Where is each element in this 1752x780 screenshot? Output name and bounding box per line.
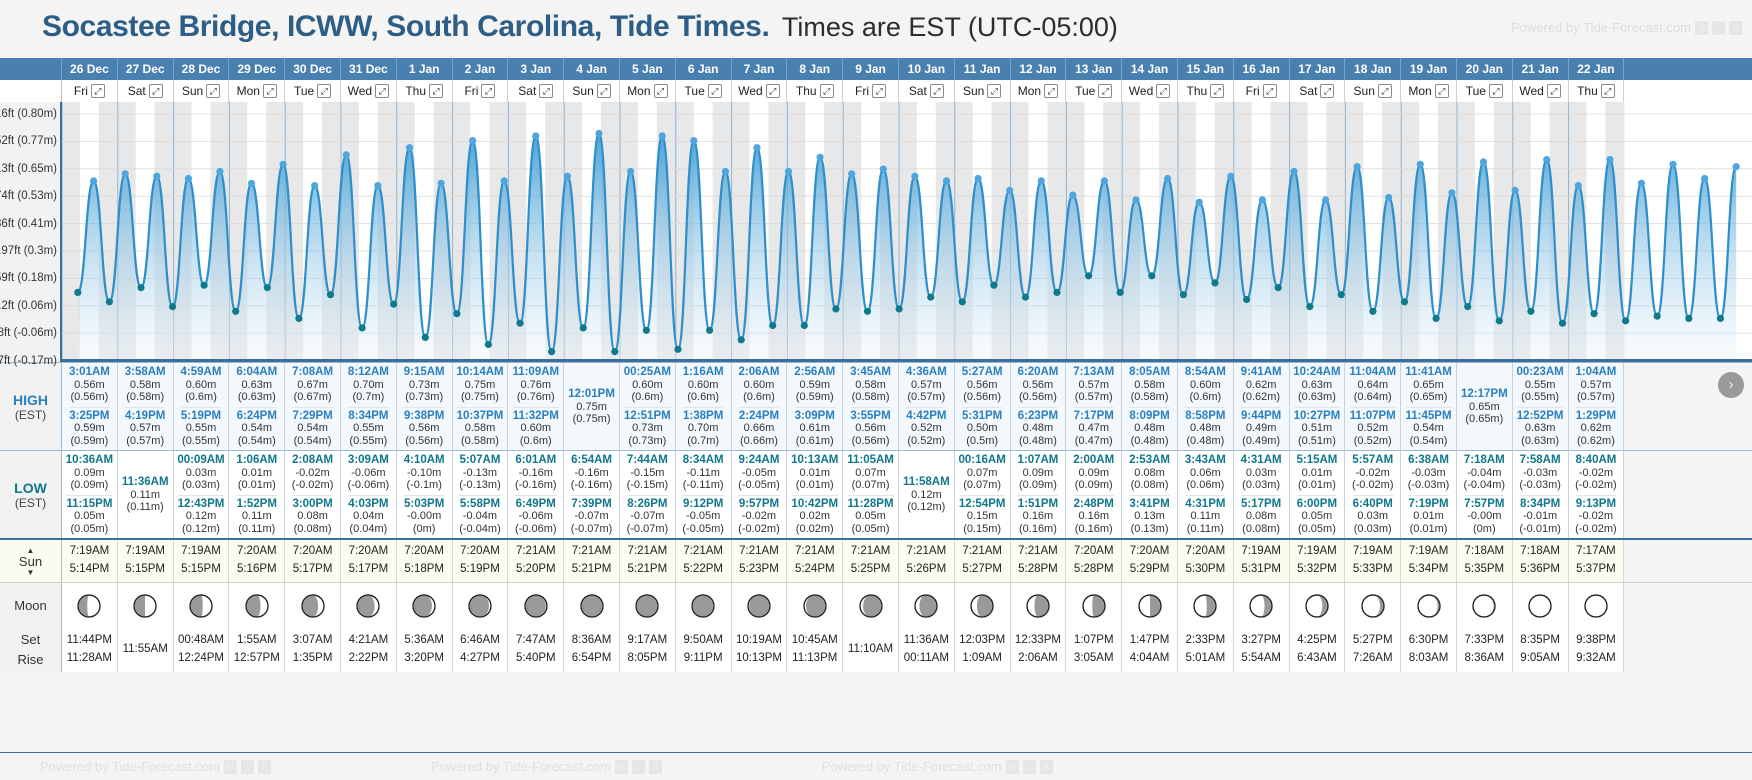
- moon-phase-icon: [1137, 593, 1163, 619]
- date-header-cell[interactable]: 11 Jan: [955, 58, 1011, 80]
- low-event: 00:09AM0.03m(0.03m): [177, 453, 224, 493]
- moon-cell: [1122, 583, 1178, 628]
- high-height-alt: (0.76m): [512, 391, 559, 403]
- high-height-alt: (0.5m): [962, 435, 1002, 447]
- low-height: -0.05m: [682, 510, 724, 522]
- expand-icon[interactable]: ⤢: [708, 84, 722, 98]
- weekday-cell: Thu⤢: [787, 80, 843, 102]
- low-event: 7:19PM0.01m(0.01m): [1408, 495, 1448, 537]
- moon-phase-icon: [300, 593, 326, 619]
- moon-cell: [843, 583, 899, 628]
- date-header-cell[interactable]: 31 Dec: [341, 58, 397, 80]
- tide-curve-plot: [62, 102, 1752, 362]
- low-height: 0.07m: [847, 467, 894, 479]
- moonset-time: 11:36AM: [904, 632, 949, 650]
- sunrise-time: 7:20AM: [1130, 543, 1170, 561]
- low-cell: 10:36AM0.09m(0.09m)11:15PM0.05m(0.05m): [62, 451, 118, 538]
- sunset-time: 5:23PM: [739, 561, 779, 579]
- high-cell: 8:12AM0.70m(0.7m)8:34PM0.55m(0.55m): [341, 363, 397, 450]
- expand-icon[interactable]: ⤢: [263, 84, 277, 98]
- moon-cell: [1178, 583, 1234, 628]
- low-cell: 7:44AM-0.15m(-0.15m)8:26PM-0.07m(-0.07m): [620, 451, 676, 538]
- low-event: 9:13PM-0.02m(-0.02m): [1575, 495, 1617, 537]
- low-cell: 6:54AM-0.16m(-0.16m)7:39PM-0.07m(-0.07m): [564, 451, 620, 538]
- low-cell: 6:38AM-0.03m(-0.03m)7:19PM0.01m(0.01m): [1401, 451, 1457, 538]
- high-height-alt: (0.6m): [513, 435, 559, 447]
- moon-phase-icon: [634, 593, 660, 619]
- expand-icon[interactable]: ⤢: [317, 84, 331, 98]
- expand-icon[interactable]: ⤢: [1547, 84, 1561, 98]
- high-time: 7:13AM: [1073, 366, 1114, 379]
- date-header-cell[interactable]: 6 Jan: [676, 58, 732, 80]
- moon-setrise-cell: 4:21AM2:22PM: [341, 628, 397, 672]
- expand-icon[interactable]: ⤢: [1489, 84, 1503, 98]
- high-height: 0.65m: [1405, 379, 1452, 391]
- high-height: 0.67m: [292, 379, 333, 391]
- date-header-cell[interactable]: 16 Jan: [1234, 58, 1290, 80]
- date-header-cell[interactable]: 2 Jan: [453, 58, 509, 80]
- low-height: -0.13m: [459, 467, 501, 479]
- low-height-alt: (0.11m): [237, 523, 277, 535]
- moonset-time: 11:10AM: [848, 641, 893, 659]
- scroll-badge[interactable]: ›: [1718, 372, 1744, 398]
- sun-label: ▲ Sun ▼: [0, 540, 62, 582]
- expand-icon[interactable]: ⤢: [1320, 84, 1334, 98]
- date-header-cell[interactable]: 4 Jan: [564, 58, 620, 80]
- expand-icon[interactable]: ⤢: [1435, 84, 1449, 98]
- moonrise-time: 2:22PM: [349, 650, 389, 668]
- low-event: 11:05AM0.07m(0.07m): [847, 453, 894, 493]
- weekday-text: Sun: [572, 84, 593, 98]
- expand-icon[interactable]: ⤢: [1263, 84, 1277, 98]
- moonrise-time: 6:43AM: [1297, 650, 1337, 668]
- high-event: 3:09PM0.61m(0.61m): [795, 407, 835, 449]
- sunset-time: 5:17PM: [349, 561, 389, 579]
- date-header-cell[interactable]: 28 Dec: [174, 58, 230, 80]
- high-time: 9:41AM: [1241, 366, 1282, 379]
- moonset-time: 00:48AM: [178, 632, 224, 650]
- low-time: 2:48PM: [1074, 498, 1114, 511]
- sunrise-time: 7:21AM: [795, 543, 835, 561]
- y-axis-tick: 2.6ft (0.80m): [0, 108, 57, 120]
- moonset-time: 10:19AM: [736, 632, 782, 650]
- expand-icon[interactable]: ⤢: [820, 84, 834, 98]
- weekday-cell: Mon⤢: [229, 80, 285, 102]
- sun-label-text: Sun: [19, 554, 42, 569]
- moonrise-time: 11:13PM: [792, 650, 837, 668]
- high-time: 8:12AM: [348, 366, 389, 379]
- high-height: 0.60m: [683, 379, 724, 391]
- date-header-cell[interactable]: 13 Jan: [1066, 58, 1122, 80]
- low-event: 2:08AM-0.02m(-0.02m): [292, 453, 334, 493]
- low-time: 00:16AM: [958, 454, 1005, 467]
- high-time: 3:58AM: [125, 366, 166, 379]
- high-height: 0.70m: [348, 379, 389, 391]
- expand-icon[interactable]: ⤢: [1156, 84, 1170, 98]
- low-height-alt: (-0.02m): [1352, 479, 1394, 491]
- high-event: 5:19PM0.55m(0.55m): [181, 407, 221, 449]
- moonset-time: 3:07AM: [293, 632, 333, 650]
- expand-icon[interactable]: ⤢: [1210, 84, 1224, 98]
- moon-phase-icon: [411, 593, 437, 619]
- weekday-text: Wed: [738, 84, 762, 98]
- date-header-cell[interactable]: 18 Jan: [1345, 58, 1401, 80]
- expand-icon[interactable]: ⤢: [1378, 84, 1392, 98]
- moonset-time: 5:27PM: [1353, 632, 1393, 650]
- low-height: -0.00m: [404, 510, 444, 522]
- high-height: 0.58m: [850, 379, 891, 391]
- high-height-alt: (0.59m): [69, 435, 109, 447]
- high-time: 6:04AM: [236, 366, 277, 379]
- y-axis-tick: 1.74ft (0.53m): [0, 190, 57, 202]
- high-cell: 12:17PM0.65m(0.65m): [1457, 363, 1513, 450]
- chart-row: 2.6ft (0.80m)2.52ft (0.77m)2.13ft (0.65m…: [0, 102, 1752, 362]
- high-height-alt: (0.75m): [456, 391, 503, 403]
- low-cell: 8:40AM-0.02m(-0.02m)9:13PM-0.02m(-0.02m): [1569, 451, 1625, 538]
- high-height: 0.64m: [1349, 379, 1396, 391]
- date-header-cell[interactable]: 22 Jan: [1569, 58, 1625, 80]
- moon-setrise-cell: 7:47AM5:40PM: [508, 628, 564, 672]
- sunset-time: 5:14PM: [70, 561, 110, 579]
- high-height: 0.56m: [404, 422, 444, 434]
- y-axis-tick: 0.59ft (0.18m): [0, 272, 57, 284]
- moon-cell: [620, 583, 676, 628]
- high-event: 8:34PM0.55m(0.55m): [348, 407, 388, 449]
- sun-cell: 7:21AM5:26PM: [899, 540, 955, 582]
- expand-icon[interactable]: ⤢: [149, 84, 163, 98]
- moon-setrise-cell: 00:48AM12:24PM: [174, 628, 230, 672]
- high-height: 0.75m: [568, 401, 615, 413]
- sunrise-time: 7:21AM: [907, 543, 947, 561]
- low-height: 0.16m: [1018, 510, 1058, 522]
- low-height-alt: (-0.07m): [571, 523, 613, 535]
- sunrise-time: 7:21AM: [683, 543, 723, 561]
- high-time: 10:27PM: [1294, 410, 1341, 423]
- date-header-cell[interactable]: 10 Jan: [899, 58, 955, 80]
- date-header-cell[interactable]: 7 Jan: [732, 58, 788, 80]
- sunset-time: 5:32PM: [1297, 561, 1337, 579]
- moonrise-time: 10:13PM: [736, 650, 782, 668]
- moonset-time: 6:30PM: [1409, 632, 1449, 650]
- date-header-cell[interactable]: 29 Dec: [229, 58, 285, 80]
- low-height-alt: (-0.05m): [682, 523, 724, 535]
- sunrise-time: 7:19AM: [1297, 543, 1337, 561]
- low-height-alt: (-0.02m): [738, 523, 780, 535]
- low-height: -0.06m: [515, 510, 557, 522]
- expand-icon[interactable]: ⤢: [539, 84, 553, 98]
- high-height-alt: (0.58m): [850, 391, 891, 403]
- low-height-alt: (0.12m): [903, 501, 950, 513]
- page-subtitle: Times are EST (UTC-05:00): [782, 12, 1118, 42]
- low-time: 3:43AM: [1185, 454, 1226, 467]
- high-event: 11:04AM0.64m(0.64m): [1349, 365, 1396, 405]
- low-height: 0.01m: [791, 467, 838, 479]
- low-height-alt: (-0.03m): [1519, 479, 1561, 491]
- low-height-alt: (0.02m): [791, 523, 838, 535]
- expand-icon[interactable]: ⤢: [1601, 84, 1615, 98]
- expand-icon[interactable]: ⤢: [429, 84, 443, 98]
- low-time: 8:34PM: [1519, 498, 1561, 511]
- weekday-text: Fri: [855, 84, 869, 98]
- low-height: 0.03m: [1241, 467, 1282, 479]
- date-header-cell[interactable]: 27 Dec: [118, 58, 174, 80]
- moon-setrise-cell: 1:47PM4:04AM: [1122, 628, 1178, 672]
- moonset-time: 2:33PM: [1186, 632, 1226, 650]
- expand-icon[interactable]: ⤢: [91, 84, 105, 98]
- expand-icon[interactable]: ⤢: [987, 84, 1001, 98]
- date-header-cell[interactable]: 15 Jan: [1178, 58, 1234, 80]
- sun-cells: 7:19AM5:14PM7:19AM5:15PM7:19AM5:15PM7:20…: [62, 540, 1624, 582]
- date-header-cell[interactable]: 5 Jan: [620, 58, 676, 80]
- moon-phase-icon: [913, 593, 939, 619]
- moon-cell: [508, 583, 564, 628]
- high-cell: 10:24AM0.63m(0.63m)10:27PM0.51m(0.51m): [1290, 363, 1346, 450]
- moon-phase-icon: [746, 593, 772, 619]
- low-time: 8:34AM: [683, 454, 724, 467]
- expand-icon[interactable]: ⤢: [654, 84, 668, 98]
- high-cell: 8:05AM0.58m(0.58m)8:09PM0.48m(0.48m): [1122, 363, 1178, 450]
- moonset-time: 9:17AM: [628, 632, 668, 650]
- high-time: 10:14AM: [456, 366, 503, 379]
- sun-cell: 7:20AM5:17PM: [285, 540, 341, 582]
- low-height-alt: (0.03m): [177, 479, 224, 491]
- high-event: 10:24AM0.63m(0.63m): [1293, 365, 1340, 405]
- y-axis-tick: 0.2ft (0.06m): [0, 300, 57, 312]
- date-header-cell[interactable]: 14 Jan: [1122, 58, 1178, 80]
- high-height-alt: (0.47m): [1074, 435, 1114, 447]
- low-time: 7:57PM: [1464, 498, 1504, 511]
- date-cells: 26 Dec27 Dec28 Dec29 Dec30 Dec31 Dec1 Ja…: [62, 58, 1624, 80]
- low-height: 0.15m: [959, 510, 1006, 522]
- moonset-time: 5:36AM: [404, 632, 444, 650]
- low-time: 8:40AM: [1575, 454, 1617, 467]
- low-event: 11:28PM0.05m(0.05m): [848, 495, 894, 537]
- weekday-cell: Sun⤢: [955, 80, 1011, 102]
- footer-watermark-2: Powered by Tide-Forecast.com M ↓ A: [431, 759, 662, 774]
- low-time: 11:36AM: [122, 476, 169, 489]
- low-height: 0.02m: [791, 510, 838, 522]
- high-time: 11:32PM: [513, 410, 559, 423]
- high-height: 0.52m: [906, 422, 946, 434]
- low-event: 2:53AM0.08m(0.08m): [1129, 453, 1170, 493]
- low-height: 0.03m: [1353, 510, 1393, 522]
- moon-phase-icon: [1527, 593, 1553, 619]
- sunset-time: 5:31PM: [1241, 561, 1281, 579]
- moon-setrise-cell: 2:33PM5:01AM: [1178, 628, 1234, 672]
- high-cells: 3:01AM0.56m(0.56m)3:25PM0.59m(0.59m)3:58…: [62, 363, 1624, 450]
- low-height-alt: (0.09m): [66, 479, 113, 491]
- date-header-cell[interactable]: 30 Dec: [285, 58, 341, 80]
- footer-icon-6: A: [649, 760, 662, 774]
- high-height-alt: (0.56m): [962, 391, 1003, 403]
- low-height-alt: (0.08m): [292, 523, 332, 535]
- sunset-time: 5:26PM: [907, 561, 947, 579]
- sunset-time: 5:16PM: [237, 561, 277, 579]
- footer-watermark-text-2: Powered by Tide-Forecast.com: [431, 759, 611, 774]
- low-height: -0.02m: [738, 510, 780, 522]
- footer-icon-2: ↓: [241, 760, 254, 774]
- expand-icon[interactable]: ⤢: [766, 84, 780, 98]
- expand-icon[interactable]: ⤢: [481, 84, 495, 98]
- sunrise-time: 7:19AM: [181, 543, 221, 561]
- low-height: 0.01m: [1408, 510, 1448, 522]
- moon-setrise-cell: 11:10AM: [843, 628, 899, 672]
- sun-cell: 7:21AM5:20PM: [508, 540, 564, 582]
- high-height: 0.55m: [348, 422, 388, 434]
- date-header-cell[interactable]: 19 Jan: [1401, 58, 1457, 80]
- low-event: 3:43AM0.06m(0.06m): [1185, 453, 1226, 493]
- moon-cell: [341, 583, 397, 628]
- weekday-cell: Wed⤢: [341, 80, 397, 102]
- low-cell: 7:18AM-0.04m(-0.04m)7:57PM-0.00m(0m): [1457, 451, 1513, 538]
- sunset-time: 5:20PM: [516, 561, 556, 579]
- high-height: 0.73m: [404, 379, 445, 391]
- date-header-cell[interactable]: 17 Jan: [1290, 58, 1346, 80]
- high-height-alt: (0.54m): [292, 435, 332, 447]
- high-time: 2:56AM: [794, 366, 835, 379]
- low-height: 0.09m: [1017, 467, 1058, 479]
- high-event: 8:12AM0.70m(0.7m): [348, 365, 389, 405]
- sun-cell: 7:20AM5:30PM: [1178, 540, 1234, 582]
- low-height: -0.02m: [292, 467, 334, 479]
- high-height: 0.57m: [125, 422, 165, 434]
- high-cell: 10:14AM0.75m(0.75m)10:37PM0.58m(0.58m): [453, 363, 509, 450]
- low-event: 4:31PM0.11m(0.11m): [1185, 495, 1225, 537]
- expand-icon[interactable]: ⤢: [1098, 84, 1112, 98]
- high-cell: 6:04AM0.63m(0.63m)6:24PM0.54m(0.54m): [229, 363, 285, 450]
- y-axis-tick: -0.18ft (-0.06m): [0, 327, 57, 339]
- expand-icon[interactable]: ⤢: [930, 84, 944, 98]
- high-time: 8:34PM: [348, 410, 388, 423]
- expand-icon[interactable]: ⤢: [206, 84, 220, 98]
- moonrise-time: 4:27PM: [460, 650, 500, 668]
- low-cell: 5:57AM-0.02m(-0.02m)6:40PM0.03m(0.03m): [1345, 451, 1401, 538]
- high-time: 10:24AM: [1293, 366, 1340, 379]
- moon-cell: [1011, 583, 1067, 628]
- date-header-cell[interactable]: 3 Jan: [508, 58, 564, 80]
- high-height-alt: (0.55m): [1516, 391, 1563, 403]
- weekday-cell: Sat⤢: [899, 80, 955, 102]
- weekday-text: Tue: [685, 84, 705, 98]
- low-height-alt: (-0.03m): [1408, 479, 1450, 491]
- set-label: Set: [21, 630, 41, 650]
- moonset-time: 12:03PM: [959, 632, 1005, 650]
- weekday-text: Thu: [405, 84, 426, 98]
- weekday-cell: Mon⤢: [1401, 80, 1457, 102]
- high-time: 12:17PM: [1461, 388, 1508, 401]
- moon-phase-icon: [244, 593, 270, 619]
- moonrise-time: 7:26AM: [1353, 650, 1393, 668]
- low-height: 0.11m: [1185, 510, 1225, 522]
- expand-icon[interactable]: ⤢: [872, 84, 886, 98]
- high-event: 9:15AM0.73m(0.73m): [404, 365, 445, 405]
- high-cell: 4:59AM0.60m(0.6m)5:19PM0.55m(0.55m): [174, 363, 230, 450]
- date-header-cell[interactable]: 1 Jan: [397, 58, 453, 80]
- high-height-alt: (0.7m): [348, 391, 389, 403]
- high-height: 0.76m: [512, 379, 559, 391]
- low-height-alt: (0m): [1464, 523, 1504, 535]
- low-height-alt: (-0.07m): [627, 523, 669, 535]
- sun-cell: 7:20AM5:16PM: [229, 540, 285, 582]
- low-event: 8:34AM-0.11m(-0.11m): [683, 453, 724, 493]
- low-cell: 10:13AM0.01m(0.01m)10:42PM0.02m(0.02m): [787, 451, 843, 538]
- high-height: 0.56m: [1017, 379, 1058, 391]
- sun-cell: 7:21AM5:27PM: [955, 540, 1011, 582]
- weekday-text: Thu: [1577, 84, 1598, 98]
- high-height-alt: (0.54m): [1406, 435, 1452, 447]
- moonrise-time: 9:05AM: [1520, 650, 1560, 668]
- moon-setrise-cell: 12:33PM2:06AM: [1011, 628, 1067, 672]
- y-axis-tick: 1.36ft (0.41m): [0, 218, 57, 230]
- weekday-cell: Fri⤢: [62, 80, 118, 102]
- low-height: 0.12m: [178, 510, 225, 522]
- low-event: 6:38AM-0.03m(-0.03m): [1408, 453, 1450, 493]
- expand-icon[interactable]: ⤢: [1044, 84, 1058, 98]
- low-height-alt: (0.09m): [1073, 479, 1114, 491]
- date-header-cell[interactable]: 21 Jan: [1513, 58, 1569, 80]
- low-height: -0.00m: [1464, 510, 1504, 522]
- low-time: 11:05AM: [847, 454, 894, 467]
- date-header-cell[interactable]: 12 Jan: [1011, 58, 1067, 80]
- low-cell: 11:58AM0.12m(0.12m): [899, 451, 955, 538]
- expand-icon[interactable]: ⤢: [597, 84, 611, 98]
- low-height: -0.04m: [459, 510, 501, 522]
- high-event: 4:59AM0.60m(0.6m): [181, 365, 222, 405]
- date-header-cell[interactable]: 9 Jan: [843, 58, 899, 80]
- low-time: 2:08AM: [292, 454, 334, 467]
- high-time: 11:41AM: [1405, 366, 1452, 379]
- sunset-time: 5:28PM: [1018, 561, 1058, 579]
- high-height: 0.56m: [850, 422, 890, 434]
- sunrise-time: 7:21AM: [1018, 543, 1058, 561]
- sunrise-time: 7:20AM: [293, 543, 333, 561]
- expand-icon[interactable]: ⤢: [375, 84, 389, 98]
- moon-setrise-cell: 8:35PM9:05AM: [1513, 628, 1569, 672]
- date-header-cell[interactable]: 20 Jan: [1457, 58, 1513, 80]
- footer-icon-9: A: [1040, 760, 1053, 774]
- weekday-cell: Sat⤢: [1290, 80, 1346, 102]
- moonrise-time: 5:54AM: [1241, 650, 1281, 668]
- high-height-alt: (0.64m): [1349, 391, 1396, 403]
- weekday-cell: Tue⤢: [1457, 80, 1513, 102]
- high-event: 8:54AM0.60m(0.6m): [1185, 365, 1226, 405]
- high-cell: 1:04AM0.57m(0.57m)1:29PM0.62m(0.62m): [1569, 363, 1625, 450]
- low-height-alt: (-0.01m): [1519, 523, 1561, 535]
- high-event: 8:05AM0.58m(0.58m): [1129, 365, 1170, 405]
- moonset-time: 1:55AM: [237, 632, 277, 650]
- low-height-alt: (-0.16m): [571, 479, 613, 491]
- low-event: 7:57PM-0.00m(0m): [1464, 495, 1504, 537]
- low-height-alt: (0.01m): [1408, 523, 1448, 535]
- high-height-alt: (0.48m): [1018, 435, 1058, 447]
- sunrise-time: 7:17AM: [1576, 543, 1616, 561]
- date-header-cell[interactable]: 8 Jan: [787, 58, 843, 80]
- sunset-time: 5:37PM: [1576, 561, 1616, 579]
- high-cell: 2:06AM0.60m(0.6m)2:24PM0.66m(0.66m): [732, 363, 788, 450]
- y-axis-tick: 2.52ft (0.77m): [0, 135, 57, 147]
- high-event: 2:56AM0.59m(0.59m): [794, 365, 835, 405]
- moonset-time: 7:33PM: [1465, 632, 1505, 650]
- low-height-alt: (-0.02m): [1575, 523, 1617, 535]
- moonrise-time: 12:57PM: [234, 650, 280, 668]
- moonset-time: 12:33PM: [1015, 632, 1061, 650]
- moon-setrise-cell: 3:07AM1:35PM: [285, 628, 341, 672]
- date-header-cell[interactable]: 26 Dec: [62, 58, 118, 80]
- low-event: 11:58AM0.12m(0.12m): [903, 475, 950, 515]
- high-cell: 5:27AM0.56m(0.56m)5:31PM0.50m(0.5m): [955, 363, 1011, 450]
- high-cell: 8:54AM0.60m(0.6m)8:58PM0.48m(0.48m): [1178, 363, 1234, 450]
- high-height-alt: (0.48m): [1129, 435, 1169, 447]
